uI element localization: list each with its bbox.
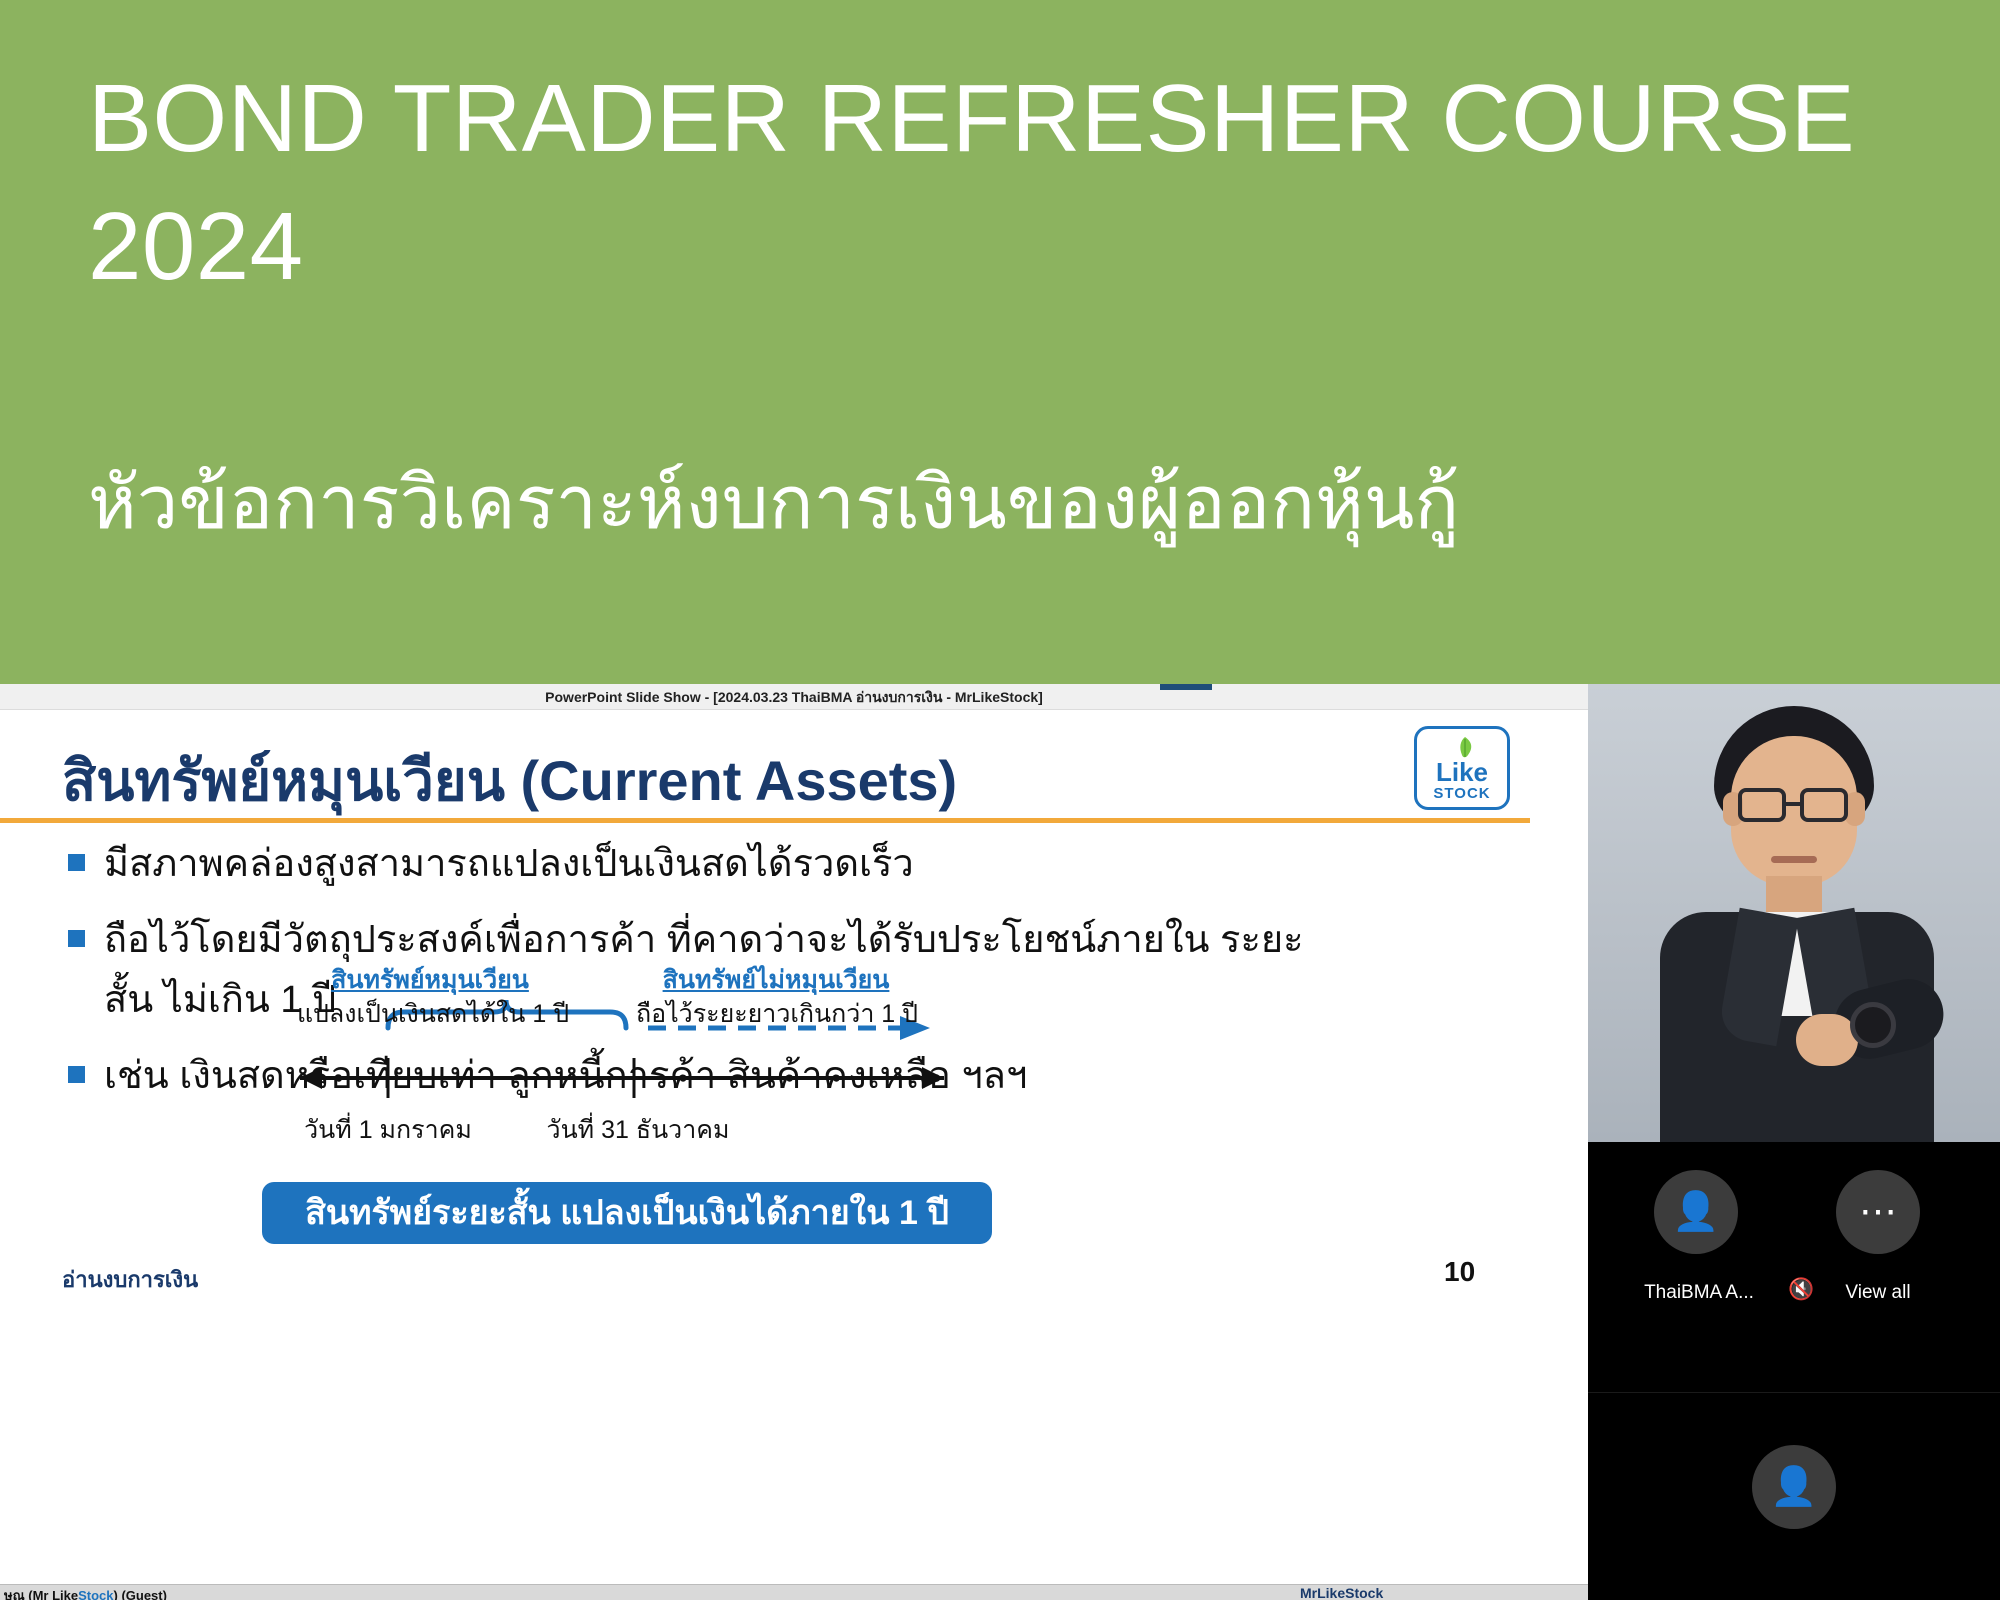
diagram-left-caption: แปลงเป็นเงินสดได้ใน 1 ปี: [268, 994, 598, 1034]
secondary-participant-tile[interactable]: 👤: [1588, 1392, 2000, 1600]
taskbar-participant-name: ษณ (Mr LikeStock) (Guest): [4, 1585, 167, 1600]
avatar-glasses-right: [1800, 788, 1848, 822]
slide-canvas: สินทรัพย์หมุนเวียน (Current Assets) Like…: [0, 710, 1588, 1600]
slide-callout-text: สินทรัพย์ระยะสั้น แปลงเป็นเงินได้ภายใน 1…: [262, 1182, 992, 1244]
avatar-ear-right: [1845, 792, 1865, 826]
diagram-right-caption: ถือไว้ระยะยาวเกินกว่า 1 ปี: [612, 994, 942, 1034]
slide-footer-label: อ่านงบการเงิน: [62, 1262, 198, 1297]
speaker-video-tile[interactable]: [1588, 684, 2000, 1142]
participant-avatar[interactable]: 👤: [1654, 1170, 1738, 1254]
powerpoint-title-bar: PowerPoint Slide Show - [2024.03.23 Thai…: [0, 684, 1588, 710]
diagram-tick-right-label: วันที่ 31 ธันวาคม: [518, 1110, 758, 1150]
secondary-participant-avatar[interactable]: 👤: [1752, 1445, 1836, 1529]
mic-muted-icon: 🔇: [1788, 1278, 1814, 1302]
avatar-watch: [1850, 1002, 1896, 1048]
person-icon: 👤: [1654, 1170, 1738, 1254]
view-all-label: View all: [1812, 1282, 1944, 1304]
page-title: BOND TRADER REFRESHER COURSE 2024: [88, 55, 1878, 311]
powerpoint-window-title: PowerPoint Slide Show - [2024.03.23 Thai…: [0, 684, 1588, 710]
slide-callout-box: สินทรัพย์ระยะสั้น แปลงเป็นเงินได้ภายใน 1…: [262, 1182, 992, 1244]
taskbar-right-label: MrLikeStock: [1300, 1585, 1383, 1600]
screen-root: BOND TRADER REFRESHER COURSE 2024 หัวข้อ…: [0, 0, 2000, 1600]
diagram-tick-left-label: วันที่ 1 มกราคม: [268, 1110, 508, 1150]
participant-name-label: ThaiBMA A...: [1604, 1282, 1794, 1304]
title-banner: BOND TRADER REFRESHER COURSE 2024 หัวข้อ…: [0, 0, 2000, 684]
timeline-diagram: [0, 710, 1588, 1600]
avatar-glasses-left: [1738, 788, 1786, 822]
more-dots-icon: ⋯: [1836, 1170, 1920, 1254]
person-icon: 👤: [1752, 1445, 1836, 1529]
avatar-mouth: [1771, 856, 1817, 863]
video-panel: 👤 ThaiBMA A... 🔇 ⋯ View all 👤: [1588, 684, 2000, 1600]
window-tab-indicator: [1160, 684, 1212, 690]
page-subtitle: หัวข้อการวิเคราะห์งบการเงินของผู้ออกหุ้น…: [88, 455, 1908, 551]
view-all-button[interactable]: ⋯: [1836, 1170, 1920, 1254]
slide-page-number: 10: [1444, 1256, 1475, 1288]
avatar-hand: [1796, 1014, 1858, 1066]
screen-share-region: PowerPoint Slide Show - [2024.03.23 Thai…: [0, 684, 1588, 1600]
participant-tile[interactable]: 👤 ThaiBMA A... 🔇 ⋯ View all: [1588, 1142, 2000, 1392]
presenter-taskbar[interactable]: ษณ (Mr LikeStock) (Guest) MrLikeStock: [0, 1584, 1588, 1600]
avatar-glasses-bridge: [1786, 802, 1800, 806]
